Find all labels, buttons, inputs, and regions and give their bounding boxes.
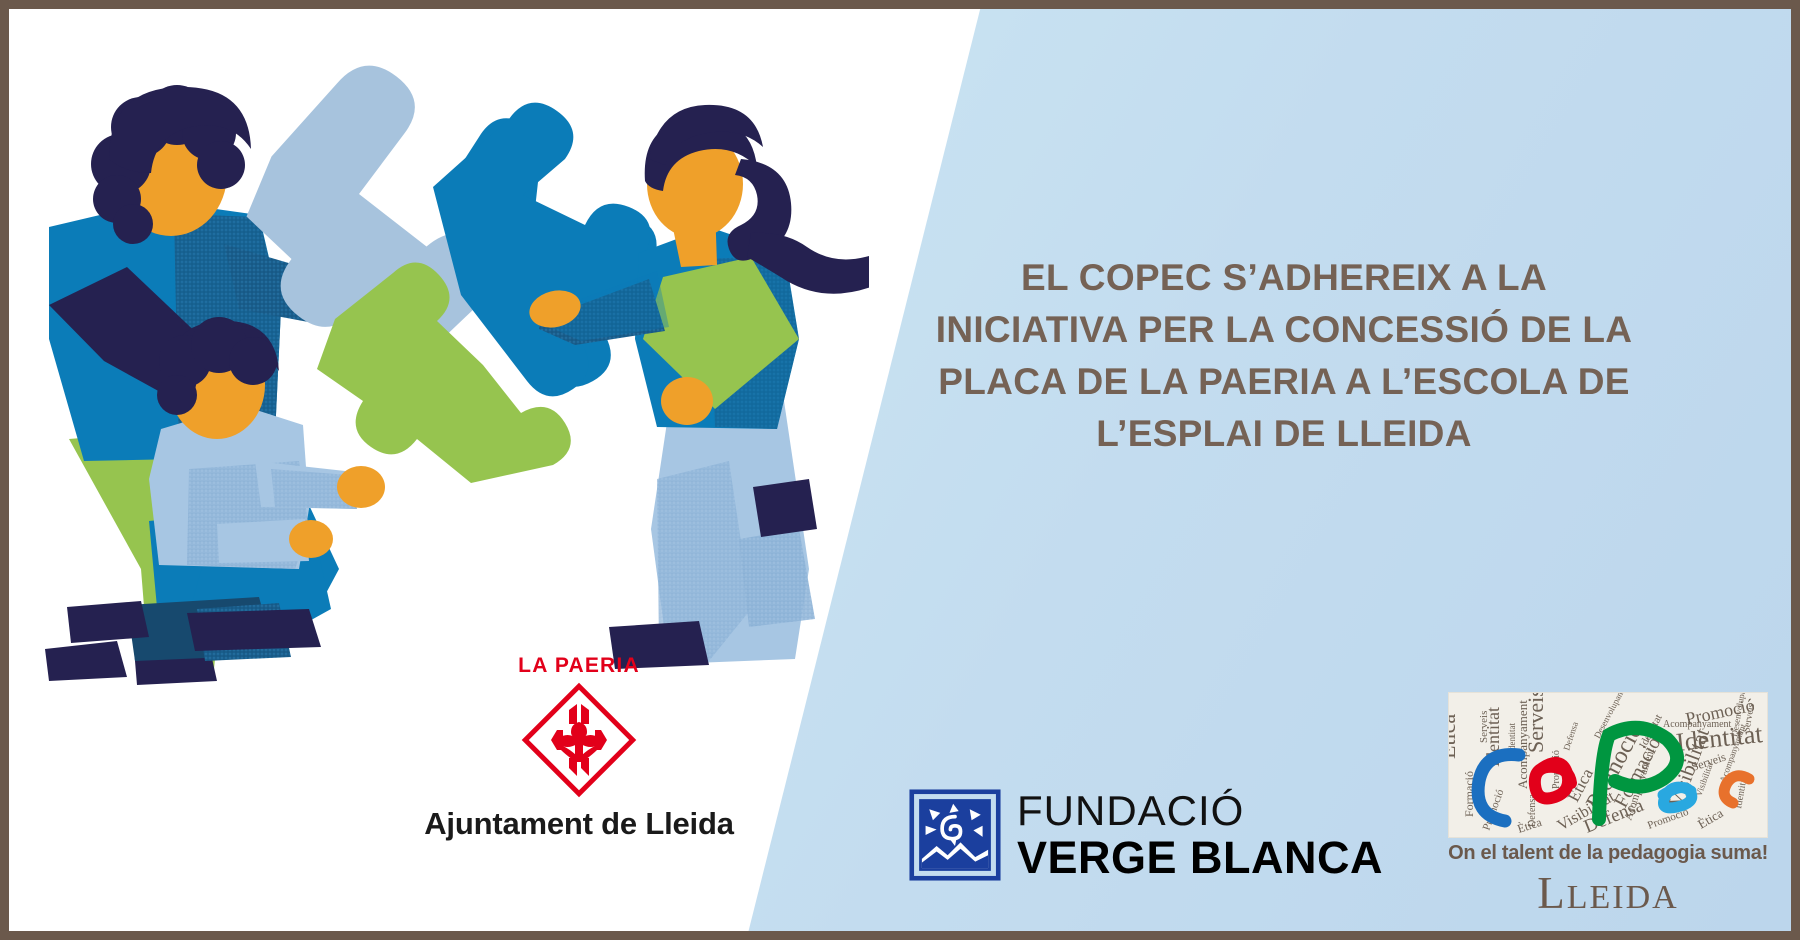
verge-blanca-wordmark: FUNDACIÓ VERGE BLANCA xyxy=(1017,790,1383,880)
figure-standing-woman xyxy=(525,105,869,669)
verge-blanca-label: VERGE BLANCA xyxy=(1017,835,1383,880)
logo-ajuntament-lleida: LA PAERIA xyxy=(414,654,744,842)
headline-line-2: INICIATIVA PER LA CONCESSIÓ DE LA xyxy=(889,304,1679,356)
copec-wordcloud-icon: Ètica Serveis Identitat Identitat Acompa… xyxy=(1448,692,1768,838)
svg-text:Serveis: Serveis xyxy=(1523,693,1548,753)
svg-text:Ètica: Ètica xyxy=(1449,714,1460,759)
copec-city-rest: LEIDA xyxy=(1567,879,1679,916)
headline-line-4: L’ESPLAI DE LLEIDA xyxy=(889,408,1679,460)
logo-copec: Ètica Serveis Identitat Identitat Acompa… xyxy=(1446,692,1770,916)
verge-blanca-sun-icon xyxy=(909,789,1001,881)
paeria-crest-icon xyxy=(519,680,639,800)
copec-city-label: LLEIDA xyxy=(1446,871,1770,916)
headline-line-1: EL COPEC S’ADHEREIX A LA xyxy=(889,252,1679,304)
la-paeria-label: LA PAERIA xyxy=(414,654,744,678)
poster: EL COPEC S’ADHEREIX A LA INICIATIVA PER … xyxy=(0,0,1800,940)
headline-line-3: PLACA DE LA PAERIA A L’ESCOLA DE xyxy=(889,356,1679,408)
copec-tagline: On el talent de la pedagogia suma! xyxy=(1446,842,1770,865)
logo-fundacio-verge-blanca: FUNDACIÓ VERGE BLANCA xyxy=(909,789,1383,881)
fundacio-label: FUNDACIÓ xyxy=(1017,790,1383,832)
illustration xyxy=(9,9,869,709)
ajuntament-label: Ajuntament de Lleida xyxy=(414,806,744,842)
page-title: EL COPEC S’ADHEREIX A LA INICIATIVA PER … xyxy=(889,252,1679,460)
copec-city-initial: L xyxy=(1537,868,1567,918)
